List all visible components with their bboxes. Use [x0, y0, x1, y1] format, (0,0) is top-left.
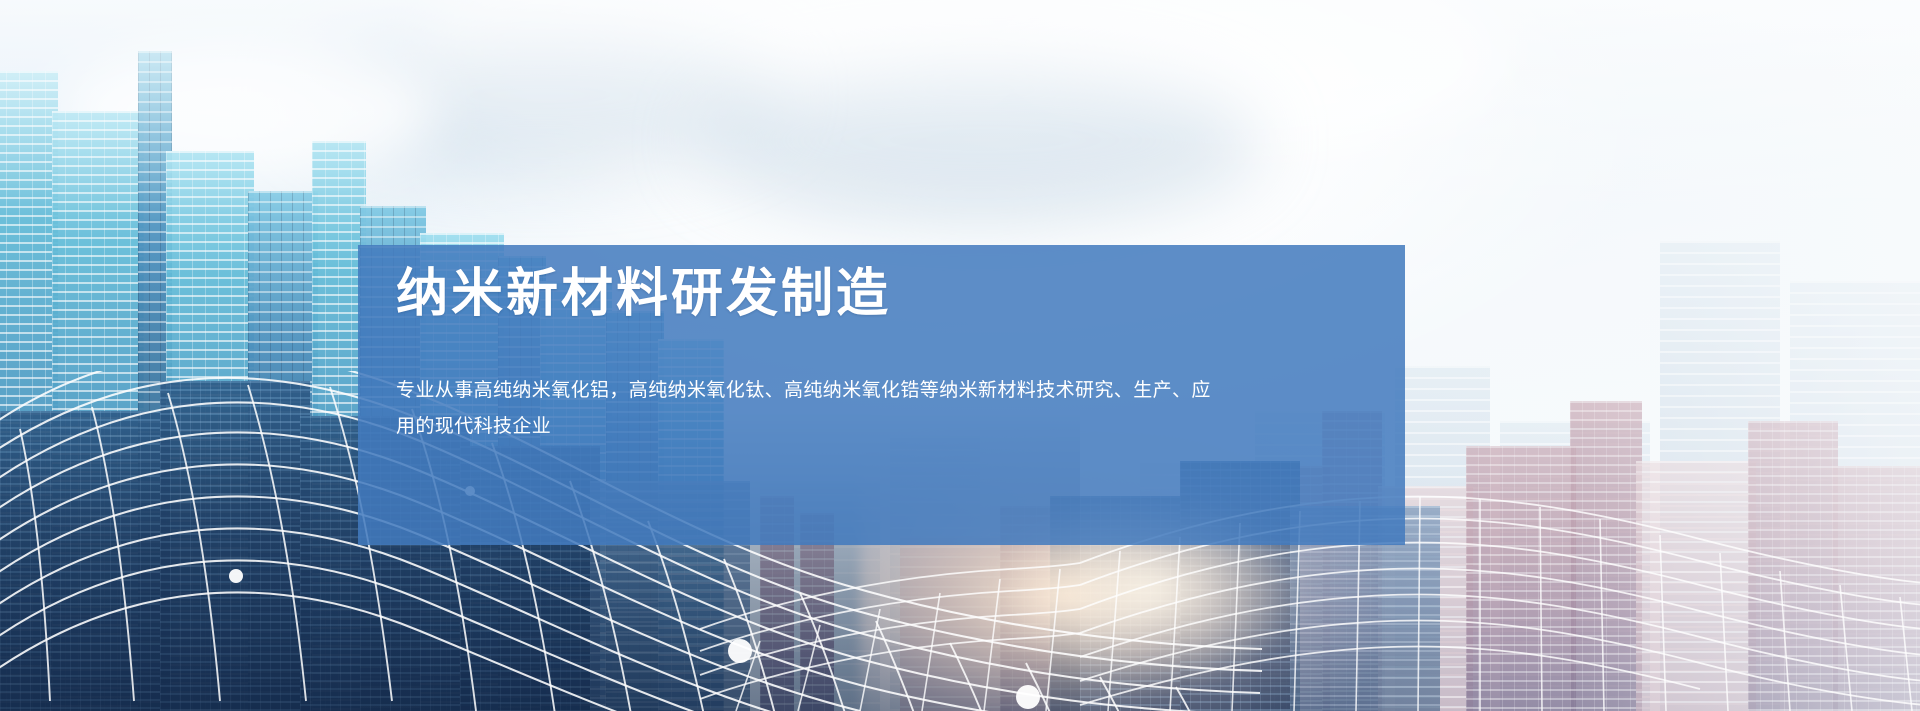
hero-text-panel: 纳米新材料研发制造 专业从事高纯纳米氧化铝，高纯纳米氧化钛、高纯纳米氧化锆等纳米…: [358, 245, 1405, 545]
hero-banner: 纳米新材料研发制造 专业从事高纯纳米氧化铝，高纯纳米氧化钛、高纯纳米氧化锆等纳米…: [0, 0, 1920, 711]
page-title: 纳米新材料研发制造: [396, 265, 891, 325]
page-subtitle: 专业从事高纯纳米氧化铝，高纯纳米氧化钛、高纯纳米氧化锆等纳米新材料技术研究、生产…: [396, 373, 1226, 445]
cloud-shape: [60, 40, 440, 180]
cloud-shadow-shape: [700, 60, 1260, 220]
